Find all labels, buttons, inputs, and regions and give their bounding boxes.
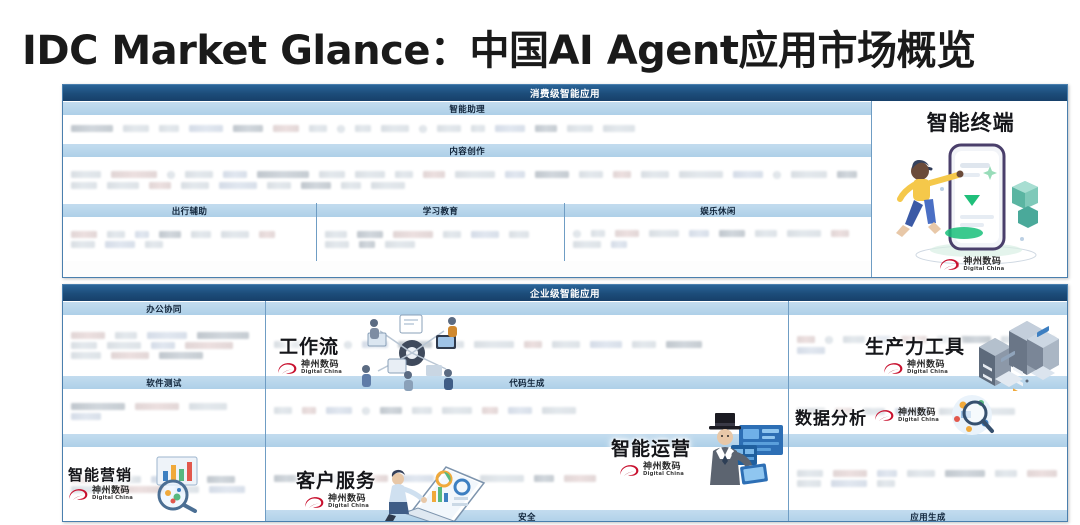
category-bar-spacer-analysis — [789, 375, 1067, 389]
enterprise-column-right: 生产力工具 神州数码 Digital China — [788, 301, 1067, 522]
enterprise-section-panel: 企业级智能应用 办公协同 软件测试 — [62, 284, 1068, 522]
category-bar-appgen: 应用生成 — [789, 509, 1067, 522]
logo-grid — [789, 315, 1067, 375]
logo-row-content — [63, 157, 871, 203]
category-bar-code: 代码生成 — [266, 375, 788, 389]
logo-row-workflow: 工作流 神州数码 Digital China — [266, 315, 788, 375]
enterprise-columns: 办公协同 软件测试 — [63, 301, 1067, 522]
logo-grid — [63, 447, 265, 521]
logo-grid — [63, 315, 265, 375]
category-bar-office: 办公协同 — [63, 301, 265, 315]
category-bar-spacer-operations — [789, 433, 1067, 447]
logo-row-productivity: 生产力工具 神州数码 Digital China — [789, 315, 1067, 375]
category-bar-spacer-service — [266, 433, 788, 447]
column-entertainment: 娱乐休闲 — [564, 203, 871, 261]
consumer-subcategory-columns: 出行辅助 学习教育 — [63, 203, 871, 261]
logo-row-education — [317, 217, 564, 261]
category-bar-spacer-productivity — [789, 301, 1067, 315]
category-bar-travel: 出行辅助 — [63, 203, 316, 217]
logo-row-entertainment — [565, 217, 871, 261]
logo-row-office — [63, 315, 265, 375]
category-bar-entertainment: 娱乐休闲 — [565, 203, 871, 217]
logo-grid — [565, 217, 871, 261]
category-bar-testing: 软件测试 — [63, 375, 265, 389]
column-education: 学习教育 — [316, 203, 564, 261]
category-bar-spacer-left — [63, 433, 265, 447]
logo-row-operations — [789, 447, 1067, 509]
logo-row-testing — [63, 389, 265, 433]
logo-grid — [317, 217, 564, 261]
category-bar-security: 安全 — [266, 509, 788, 522]
logo-row-customer-service: 客户服务 神州数码 Digital China — [266, 447, 788, 509]
category-bar-content: 内容创作 — [63, 143, 871, 157]
logo-grid — [266, 447, 788, 509]
logo-row-data-analysis: 数据分析 神州数码 Digital China — [789, 389, 1067, 433]
logo-grid — [63, 157, 871, 203]
smart-terminal-tile: 智能终端 — [871, 101, 1067, 278]
enterprise-column-left: 办公协同 软件测试 — [63, 301, 265, 522]
logo-grid — [789, 389, 1067, 433]
category-bar-assistant: 智能助理 — [63, 101, 871, 115]
logo-grid — [266, 389, 788, 433]
logo-row-assistant — [63, 115, 871, 143]
consumer-section-header: 消费级智能应用 — [63, 85, 1067, 101]
logo-grid — [63, 115, 871, 143]
digital-china-wordmark: 神州数码 Digital China — [963, 258, 1004, 273]
digital-china-swirl-icon — [938, 257, 960, 273]
logo-grid — [266, 315, 788, 375]
enterprise-column-middle: 工作流 神州数码 Digital China — [265, 301, 788, 522]
consumer-section-panel: 消费级智能应用 智能助理 — [62, 84, 1068, 278]
logo-grid — [63, 389, 265, 433]
brand-name-en: Digital China — [963, 267, 1004, 273]
digital-china-logo: 神州数码 Digital China — [938, 257, 1004, 273]
category-bar-spacer-workflow — [266, 301, 788, 315]
logo-grid — [63, 217, 316, 261]
enterprise-section-header: 企业级智能应用 — [63, 285, 1067, 301]
column-travel: 出行辅助 — [63, 203, 316, 261]
logo-grid — [789, 447, 1067, 509]
woman-with-smartphone-illustration — [872, 129, 1068, 278]
logo-row-travel — [63, 217, 316, 261]
page-title: IDC Market Glance：中国AI Agent应用市场概览 — [22, 18, 976, 76]
logo-row-code — [266, 389, 788, 433]
category-bar-education: 学习教育 — [317, 203, 564, 217]
market-glance-infographic: IDC Market Glance：中国AI Agent应用市场概览 消费级智能… — [0, 0, 1080, 525]
logo-row-marketing: 智能营销 神州数码 Digital China — [63, 447, 265, 521]
